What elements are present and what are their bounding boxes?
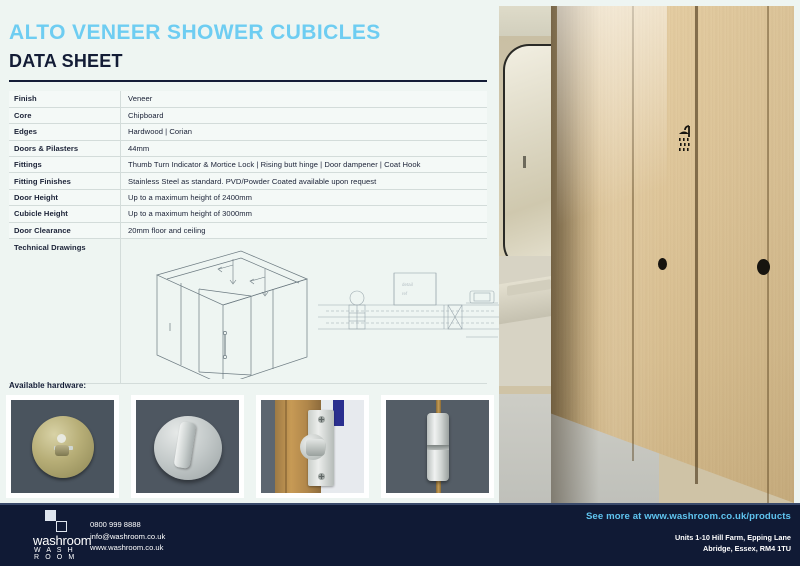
footer-divider bbox=[0, 503, 800, 505]
drawing-annotation: detail ref bbox=[402, 282, 413, 296]
see-more-link[interactable]: See more at www.washroom.co.uk/products bbox=[586, 511, 791, 522]
svg-text:detail: detail bbox=[402, 282, 413, 287]
spec-value: Veneer bbox=[121, 91, 488, 107]
washroom-logo: washroom W A S H R O O M bbox=[33, 510, 85, 556]
spec-value: 20mm floor and ceiling bbox=[121, 222, 488, 238]
table-row: Door Height Up to a maximum height of 24… bbox=[9, 189, 487, 205]
spec-key: Fitting Finishes bbox=[9, 173, 121, 189]
screw-icon bbox=[318, 473, 325, 480]
door-seam bbox=[695, 6, 698, 484]
table-row-technical-drawings: Technical Drawings bbox=[9, 239, 487, 384]
screw-icon bbox=[318, 416, 325, 423]
contact-phone: 0800 999 8888 bbox=[90, 519, 165, 531]
photo-inner bbox=[11, 400, 114, 493]
spec-value: Up to a maximum height of 2400mm bbox=[121, 189, 488, 205]
contact-website[interactable]: www.washroom.co.uk bbox=[90, 542, 165, 554]
data-sheet-page: ALTO VENEER SHOWER CUBICLES DATA SHEET F… bbox=[0, 0, 800, 566]
door-seam bbox=[767, 6, 769, 503]
background-accent bbox=[333, 400, 344, 426]
page-title: ALTO VENEER SHOWER CUBICLES bbox=[9, 22, 381, 43]
specification-table: Finish Veneer Core Chipboard Edges Hardw… bbox=[9, 91, 487, 384]
basin-bowl bbox=[507, 279, 551, 296]
hardware-photo-mortice-lock-thumb-turn-on-door bbox=[256, 395, 369, 498]
spec-table-body: Finish Veneer Core Chipboard Edges Hardw… bbox=[9, 91, 487, 384]
spec-value: 44mm bbox=[121, 140, 488, 156]
table-row: Edges Hardwood | Corian bbox=[9, 124, 487, 140]
table-row: Fitting Finishes Stainless Steel as stan… bbox=[9, 173, 487, 189]
logo-square-filled-icon bbox=[45, 510, 56, 521]
photo-inner bbox=[261, 400, 364, 493]
hinge-seam bbox=[427, 445, 449, 450]
photo-inner bbox=[136, 400, 239, 493]
spec-key: Door Clearance bbox=[9, 222, 121, 238]
hardware-photo-thumb-turn-knob bbox=[131, 395, 244, 498]
spec-key: Edges bbox=[9, 124, 121, 140]
spec-key: Finish bbox=[9, 91, 121, 107]
title-divider bbox=[9, 80, 487, 82]
company-address: Units 1-10 Hill Farm, Epping Lane Abridg… bbox=[675, 533, 791, 554]
spec-key: Fittings bbox=[9, 157, 121, 173]
door-seam bbox=[632, 6, 634, 461]
svg-text:ref: ref bbox=[402, 291, 408, 296]
spec-key: Technical Drawings bbox=[9, 239, 121, 384]
hardware-photo-rising-butt-hinge bbox=[381, 395, 494, 498]
isometric-cubicle-drawing bbox=[121, 239, 321, 379]
hardware-photo-thumb-turn-indicator-escutcheon bbox=[6, 395, 119, 498]
spec-value: Up to a maximum height of 3000mm bbox=[121, 206, 488, 222]
hardware-photo-strip bbox=[6, 395, 493, 500]
spec-value: Chipboard bbox=[121, 107, 488, 123]
contact-email[interactable]: info@washroom.co.uk bbox=[90, 531, 165, 543]
spec-key: Cubicle Height bbox=[9, 206, 121, 222]
indicator-dot bbox=[57, 434, 66, 443]
photo-inner bbox=[386, 400, 489, 493]
shower-icon bbox=[674, 124, 696, 160]
spec-key: Core bbox=[9, 107, 121, 123]
contact-details: 0800 999 8888 info@washroom.co.uk www.wa… bbox=[90, 519, 165, 554]
spec-value: Hardwood | Corian bbox=[121, 124, 488, 140]
available-hardware-label: Available hardware: bbox=[9, 381, 86, 390]
table-row: Finish Veneer bbox=[9, 91, 487, 107]
spec-key: Door Height bbox=[9, 189, 121, 205]
table-row: Core Chipboard bbox=[9, 107, 487, 123]
left-content-column: ALTO VENEER SHOWER CUBICLES DATA SHEET F… bbox=[0, 0, 495, 503]
table-row: Fittings Thumb Turn Indicator & Mortice … bbox=[9, 157, 487, 173]
plan-section-drawing: detail ref bbox=[316, 267, 506, 362]
spec-key: Doors & Pilasters bbox=[9, 140, 121, 156]
logo-subtitle: W A S H R O O M bbox=[34, 547, 85, 561]
mirror-fixing bbox=[523, 156, 526, 168]
logo-square-outline-icon bbox=[56, 521, 67, 532]
technical-drawings-area: detail ref bbox=[121, 239, 487, 379]
table-row: Door Clearance 20mm floor and ceiling bbox=[9, 222, 487, 238]
door-shadow-edge bbox=[261, 400, 275, 493]
table-row: Cubicle Height Up to a maximum height of… bbox=[9, 206, 487, 222]
address-line-2: Abridge, Essex, RM4 1TU bbox=[675, 544, 791, 555]
table-row: Doors & Pilasters 44mm bbox=[9, 140, 487, 156]
veneer-shower-cubicle-photo bbox=[499, 6, 794, 503]
spec-value: Thumb Turn Indicator & Mortice Lock | Ri… bbox=[121, 157, 488, 173]
thumb-turn-knob bbox=[306, 439, 325, 456]
logo-wordmark: washroom bbox=[33, 534, 91, 547]
coat-hook bbox=[658, 258, 667, 270]
address-line-1: Units 1-10 Hill Farm, Epping Lane bbox=[675, 533, 791, 544]
spec-value: Stainless Steel as standard. PVD/Powder … bbox=[121, 173, 488, 189]
coat-hook bbox=[757, 259, 770, 275]
technical-drawings-cell: detail ref bbox=[121, 239, 488, 384]
indicator-knob bbox=[55, 445, 69, 456]
page-subtitle: DATA SHEET bbox=[9, 52, 123, 70]
